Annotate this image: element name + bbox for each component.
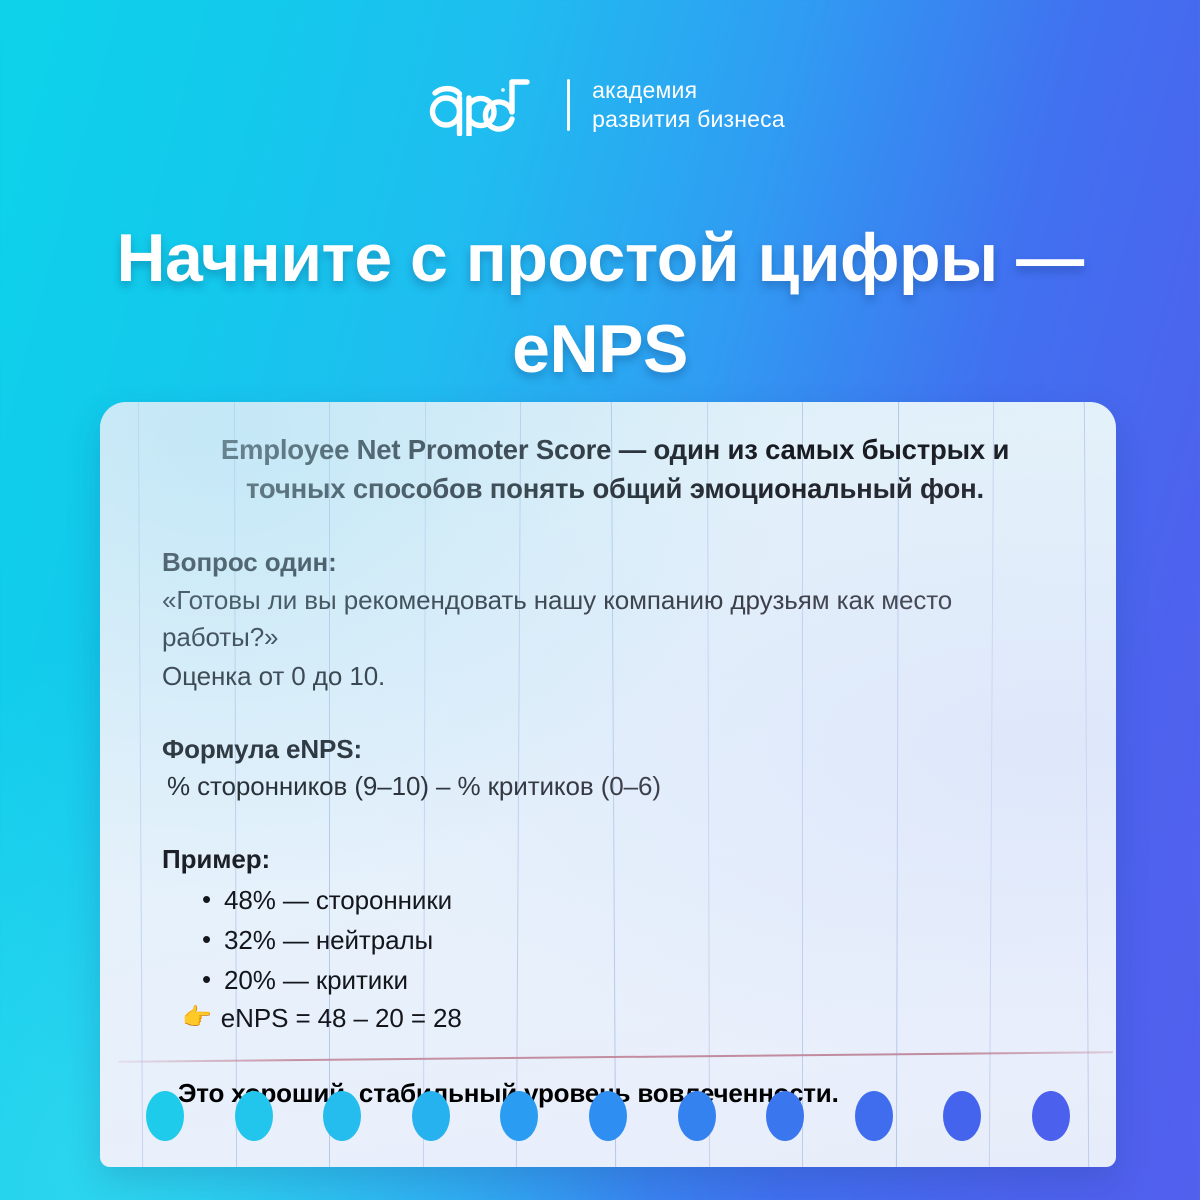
example-block: Пример: 48% — сторонники 32% — нейтралы … [162,843,1068,1038]
brand-tagline-line2: развития бизнеса [592,105,785,134]
brand-header: академия развития бизнеса [0,74,1200,136]
arb-wordmark-icon [415,74,545,136]
notebook-paper-card: Employee Net Promoter Score — один из са… [100,402,1116,1167]
example-result-row: 👉 eNPS = 48 – 20 = 28 [162,1000,1068,1038]
card-content: Employee Net Promoter Score — один из са… [100,402,1116,1167]
brand-tagline-line1: академия [592,76,785,105]
example-result-value: eNPS = 48 – 20 = 28 [221,1000,462,1038]
example-label: Пример: [162,843,1068,877]
page-title: Начните с простой цифры — eNPS [60,213,1140,395]
logo-divider [567,79,570,131]
list-item: 20% — критики [202,961,1068,1001]
list-item: 32% — нейтралы [202,921,1068,961]
formula-label: Формула eNPS: [162,733,1068,767]
question-quote: «Готовы ли вы рекомендовать нашу компани… [162,582,1068,656]
example-list: 48% — сторонники 32% — нейтралы 20% — кр… [162,881,1068,1000]
question-block: Вопрос один: «Готовы ли вы рекомендовать… [162,546,1068,695]
question-label: Вопрос один: [162,546,1068,580]
formula-block: Формула eNPS: % сторонников (9–10) – % к… [162,733,1068,806]
pointing-right-finger-icon: 👉 [182,1006,212,1030]
brand-tagline: академия развития бизнеса [592,76,785,135]
closing-statement: Это хороший, стабильный уровень вовлечен… [100,1077,1116,1111]
lede-paragraph: Employee Net Promoter Score — один из са… [162,430,1068,508]
list-item: 48% — сторонники [202,881,1068,921]
formula-expression: % сторонников (9–10) – % критиков (0–6) [162,768,1068,805]
question-scale: Оценка от 0 до 10. [162,658,1068,695]
